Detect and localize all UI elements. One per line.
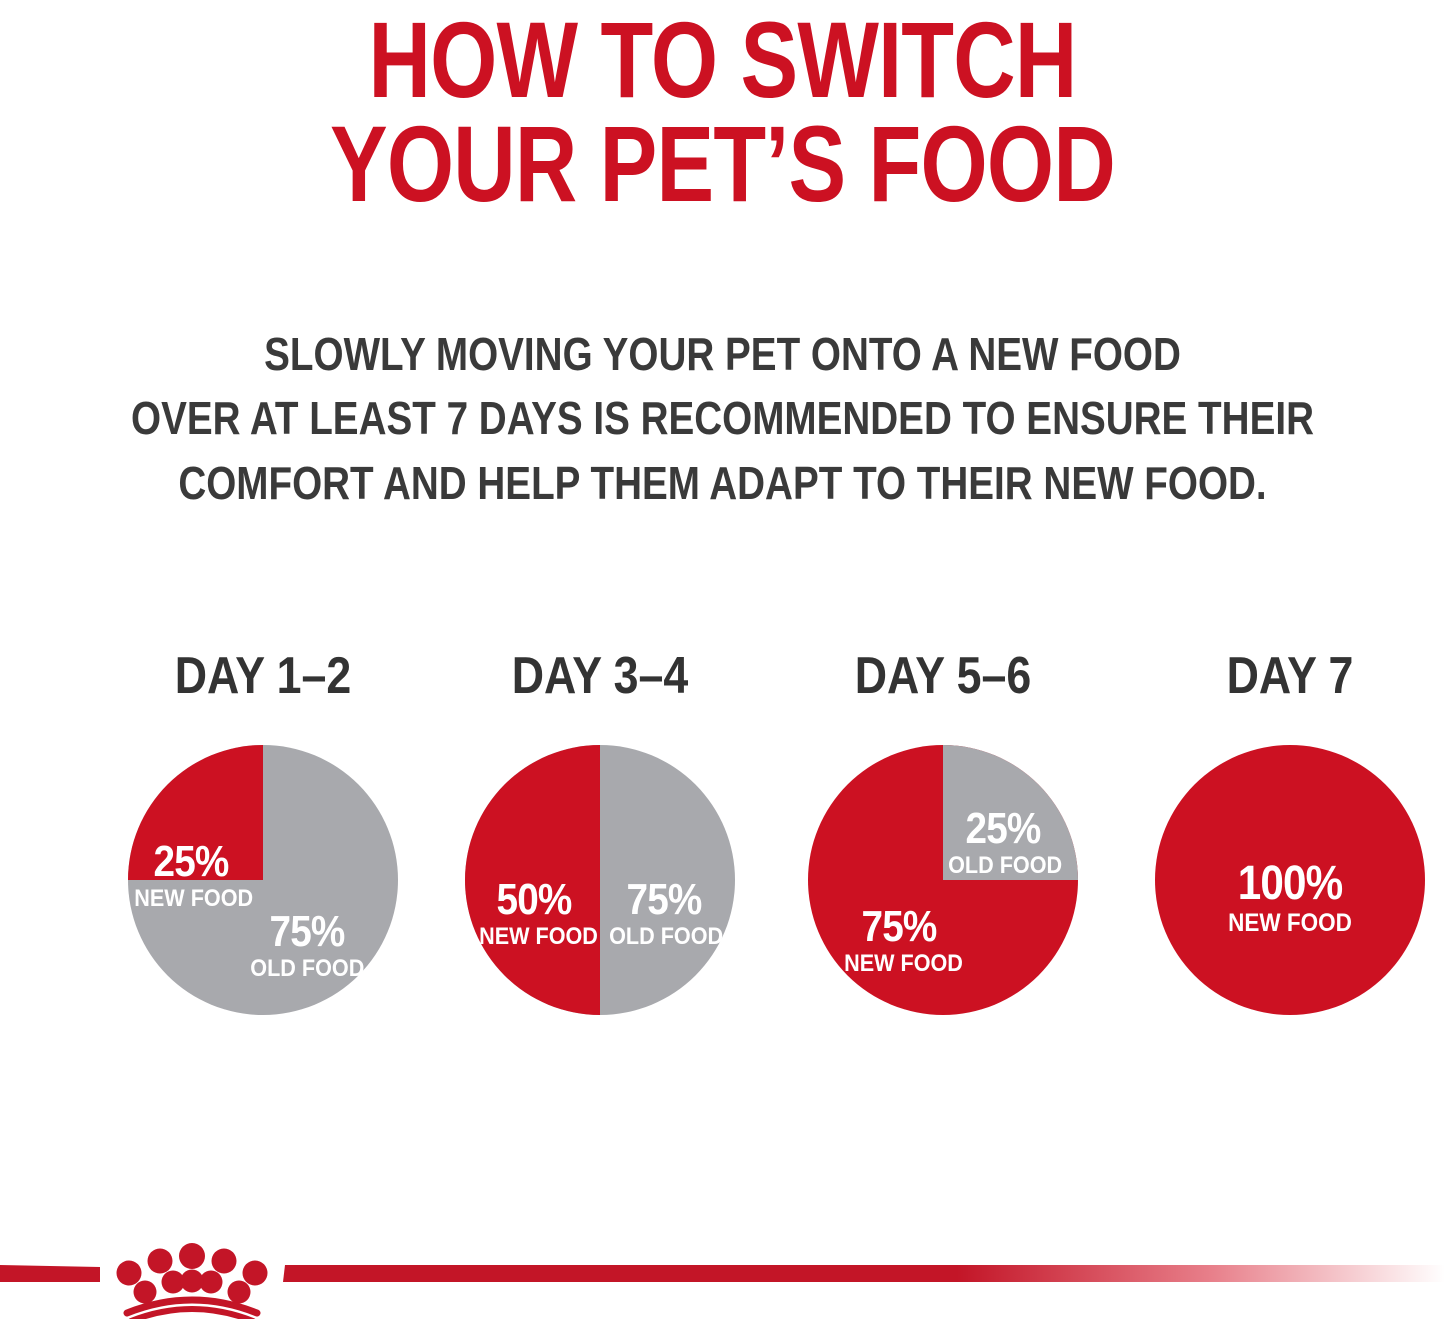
page-subtitle-line-1: SLOWLY MOVING YOUR PET ONTO A NEW FOOD xyxy=(116,322,1330,386)
pie-svg xyxy=(128,745,398,1015)
pie-svg xyxy=(808,745,1078,1015)
page-title-line-1: HOW TO SWITCH xyxy=(145,8,1301,112)
pie-svg xyxy=(465,745,735,1015)
day-label: DAY 7 xyxy=(1148,650,1432,702)
pie-graphic: 25% NEW FOOD 75% OLD FOOD xyxy=(128,745,398,1015)
pie-slice-new-food xyxy=(465,745,600,1015)
pie-chart-day-5-6: DAY 5–6 25% OLD FOOD 75% NEW FOOD xyxy=(778,650,1108,1050)
pie-graphic: 50% NEW FOOD 75% OLD FOOD xyxy=(465,745,735,1015)
pie-graphic: 25% OLD FOOD 75% NEW FOOD xyxy=(808,745,1078,1015)
page-title-line-2: YOUR PET’S FOOD xyxy=(145,112,1301,216)
pie-chart-day-7: DAY 7 100% NEW FOOD xyxy=(1125,650,1445,1050)
pie-slice-new-food xyxy=(128,745,263,880)
pie-slice-old-food xyxy=(943,745,1078,880)
pie-slice-new-food xyxy=(1155,745,1425,1015)
pie-chart-day-3-4: DAY 3–4 50% NEW FOOD 75% OLD FOOD xyxy=(435,650,765,1050)
day-label: DAY 5–6 xyxy=(801,650,1085,702)
royal-canin-crown-icon xyxy=(107,1241,277,1319)
pie-svg xyxy=(1155,745,1425,1015)
page-subtitle-line-3: COMFORT AND HELP THEM ADAPT TO THEIR NEW… xyxy=(116,451,1330,515)
pie-graphic: 100% NEW FOOD xyxy=(1155,745,1425,1015)
day-label: DAY 1–2 xyxy=(121,650,405,702)
day-label: DAY 3–4 xyxy=(458,650,742,702)
page-subtitle: SLOWLY MOVING YOUR PET ONTO A NEW FOOD O… xyxy=(116,322,1330,515)
footer-brand-bar xyxy=(0,1240,1445,1319)
page-subtitle-line-2: OVER AT LEAST 7 DAYS IS RECOMMENDED TO E… xyxy=(116,386,1330,450)
brand-band-left xyxy=(0,1265,100,1282)
pie-chart-day-1-2: DAY 1–2 25% NEW FOOD 75% OLD FOOD xyxy=(98,650,428,1050)
page-title: HOW TO SWITCH YOUR PET’S FOOD xyxy=(145,8,1301,215)
brand-band-right xyxy=(283,1265,1445,1282)
pie-chart-row: DAY 1–2 25% NEW FOOD 75% OLD FOOD DAY 3–… xyxy=(0,650,1445,1050)
